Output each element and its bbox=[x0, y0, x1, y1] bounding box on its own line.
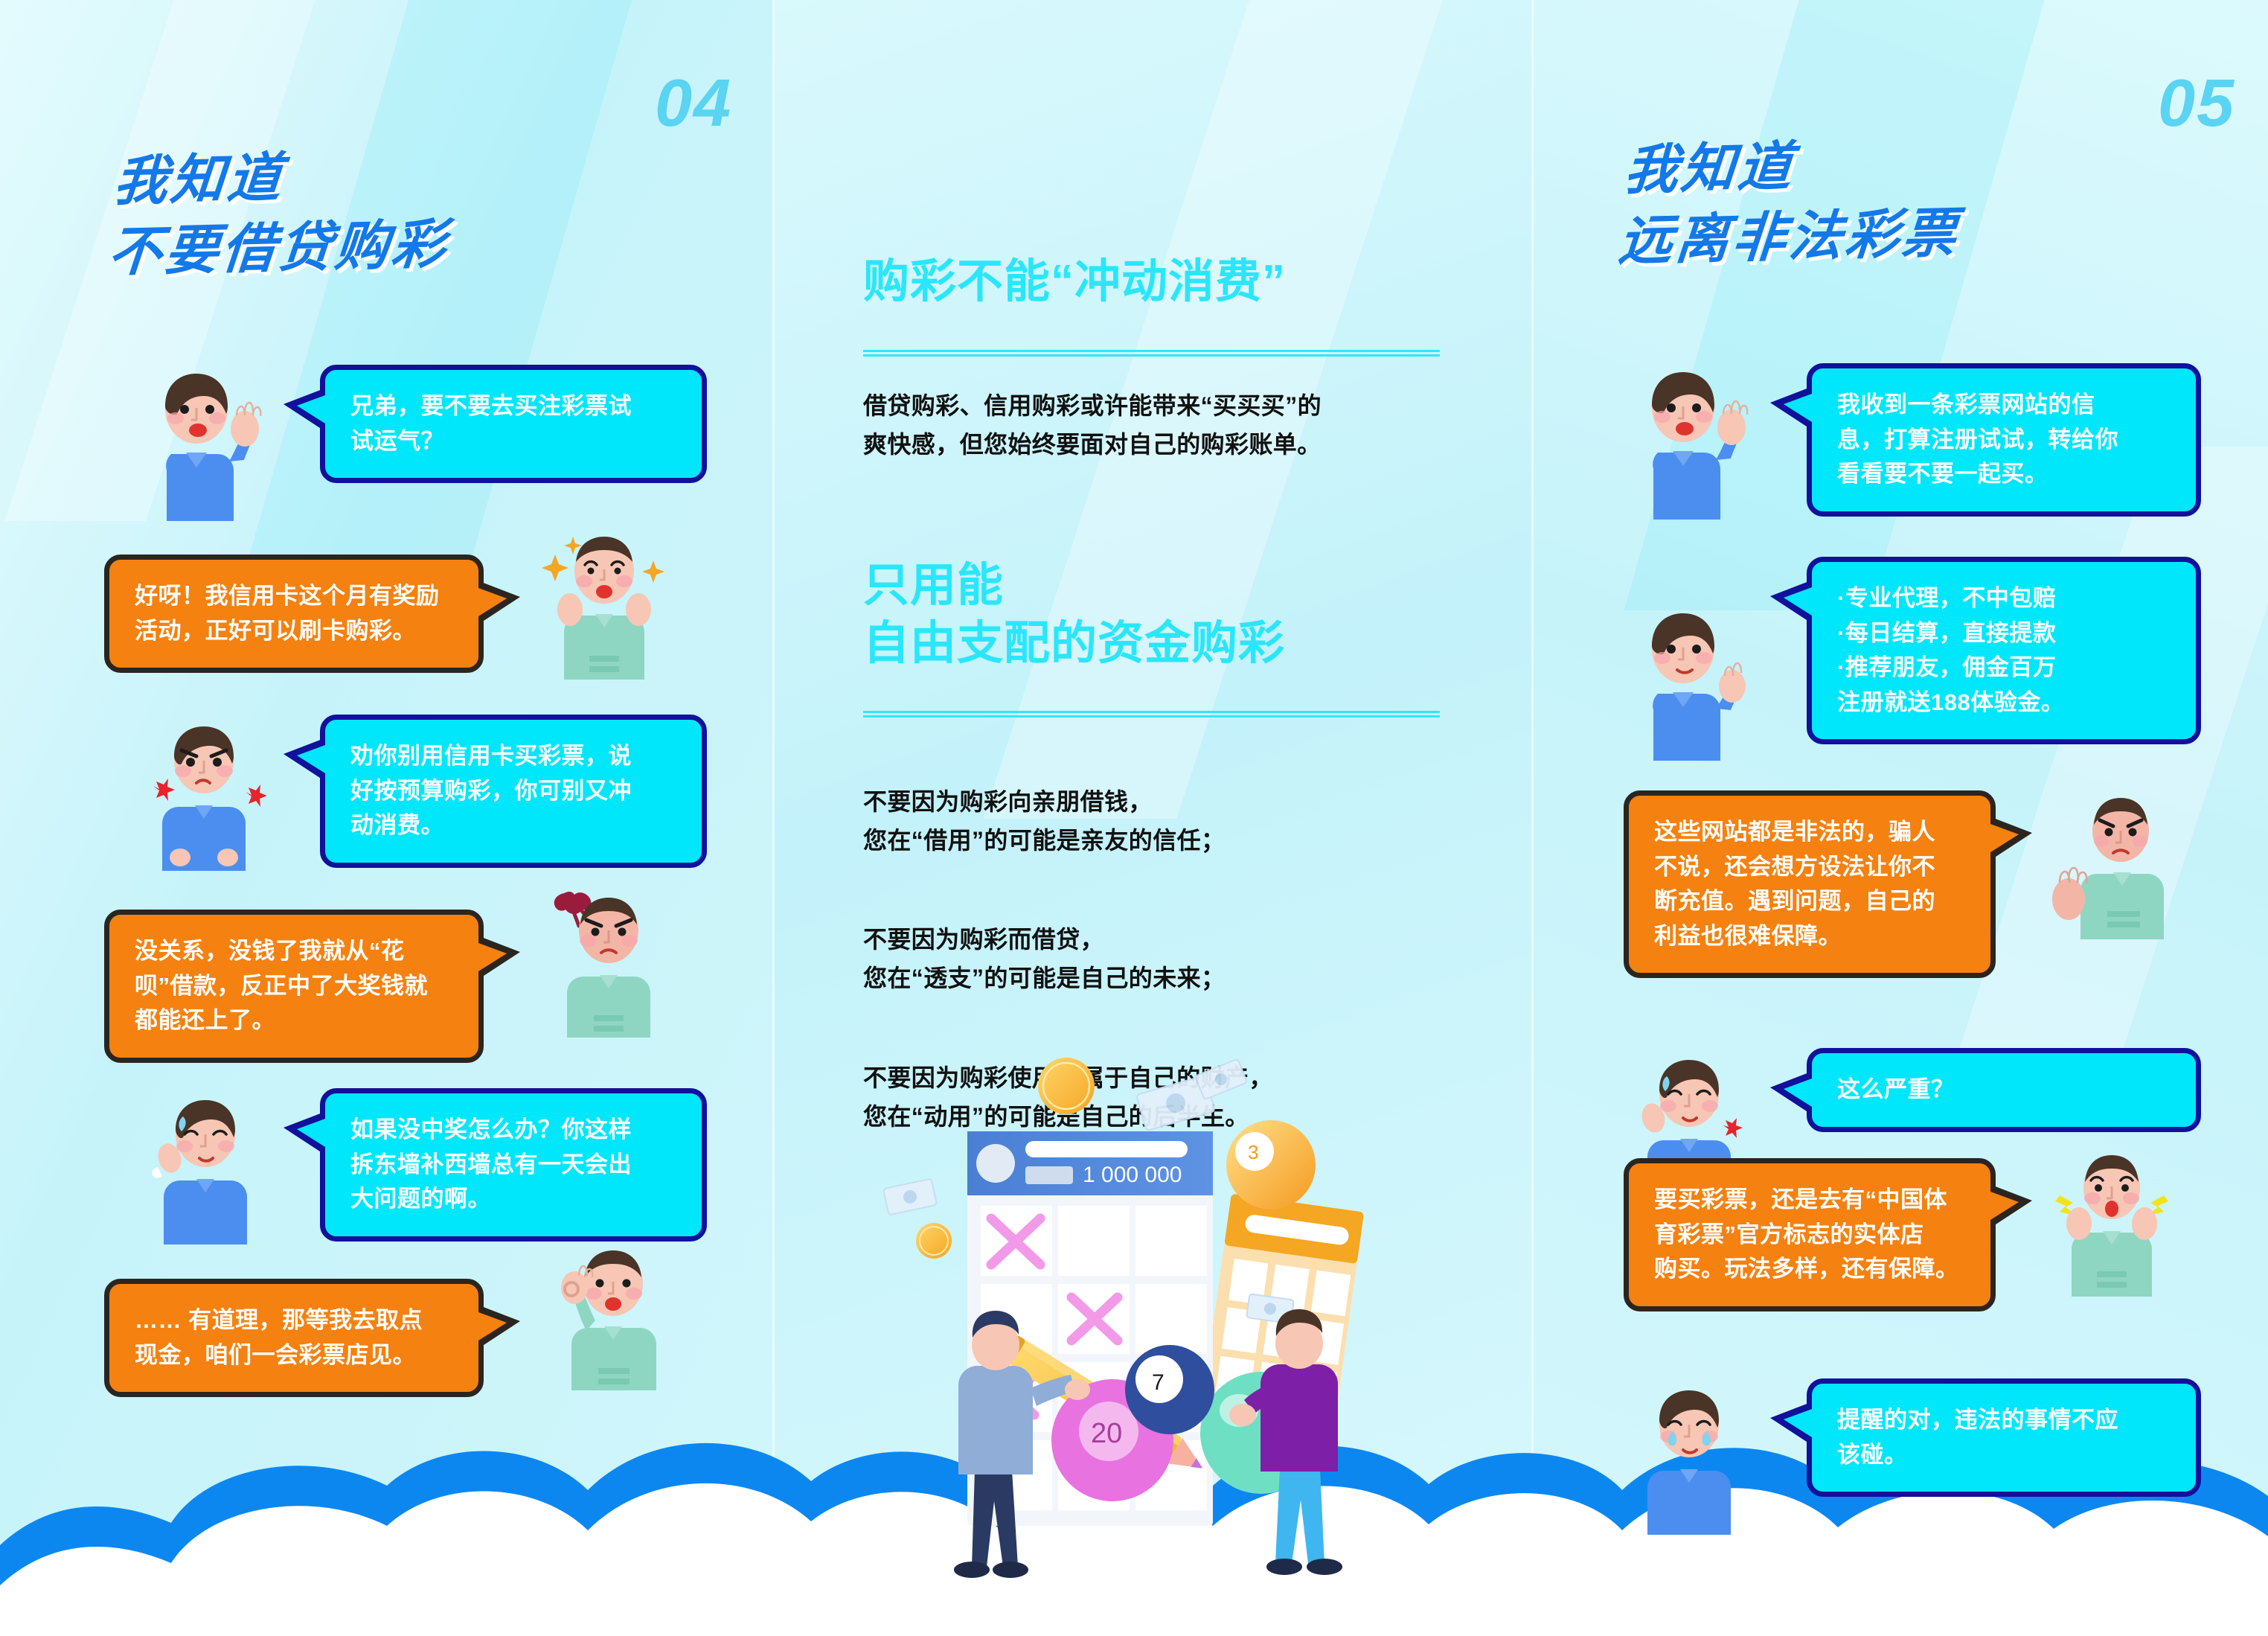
avatar-man-stop-gesture bbox=[2049, 783, 2174, 939]
page-title-left: 我知道 不要借贷购彩 bbox=[106, 137, 457, 287]
panel-right: 05 我知道 远离非法彩票 我收到一条彩票网站的信 息，打算注册试试，转给你 看… bbox=[1531, 0, 2268, 1636]
speech-bubble: 劝你别用信用卡买彩票，说 好按预算购彩，你可别又冲 动消费。 bbox=[320, 715, 707, 868]
conversation-row: 兄弟，要不要去买注彩票试 试运气？ bbox=[141, 365, 737, 521]
speech-bubble: 好呀！我信用卡这个月有奖励 活动，正好可以刷卡购彩。 bbox=[104, 555, 484, 673]
avatar-friend-worried bbox=[141, 1088, 266, 1244]
speech-bubble: 这些网站都是非法的，骗人 不说，还会想方设法让你不 断充值。遇到问题，自己的 利… bbox=[1624, 790, 1996, 978]
conversation-row: …… 有道理，那等我去取点 现金，咱们一会彩票店见。 bbox=[104, 1279, 722, 1397]
avatar-man-shocked bbox=[2049, 1140, 2174, 1297]
ball-number: 20 bbox=[1091, 1418, 1122, 1449]
panel-left: 04 我知道 不要借贷购彩 兄弟，要不要去买注彩票试 试运气？ 好呀！我信用卡这 bbox=[0, 0, 772, 1636]
conversation-row: 要买彩票，还是去有“中国体 育彩票”官方标志的实体店 购买。玩法多样，还有保障。 bbox=[1624, 1158, 2264, 1311]
center-divider-2 bbox=[863, 711, 1440, 718]
speech-bubble: 兄弟，要不要去买注彩票试 试运气？ bbox=[320, 365, 707, 483]
ball-number: 3 bbox=[1248, 1141, 1258, 1163]
conversation-row: 好呀！我信用卡这个月有奖励 活动，正好可以刷卡购彩。 bbox=[104, 555, 722, 680]
lottery-ticket-illustration: 1 000 000 3 20 7 bbox=[863, 1053, 1473, 1589]
conversation-row: 没关系，没钱了我就从“花 呗”借款，反正中了大奖钱就 都能还上了。 bbox=[104, 910, 722, 1063]
avatar-friend-angry bbox=[141, 715, 266, 871]
page-title-right: 我知道 远离非法彩票 bbox=[1616, 126, 1967, 275]
avatar-friend-waving bbox=[141, 365, 266, 521]
jackpot-amount: 1 000 000 bbox=[1083, 1163, 1182, 1187]
conversation-row: 这些网站都是非法的，骗人 不说，还会想方设法让你不 断充值。遇到问题，自己的 利… bbox=[1624, 790, 2264, 978]
speech-bubble: 如果没中奖怎么办？你这样 拆东墙补西墙总有一天会出 大问题的啊。 bbox=[320, 1088, 707, 1242]
conversation-row: 劝你别用信用卡买彩票，说 好按预算购彩，你可别又冲 动消费。 bbox=[141, 715, 737, 871]
speech-bubble: 提醒的对，违法的事情不应 该碰。 bbox=[1807, 1378, 2201, 1497]
center-paragraph: 不要因为购彩向亲朋借钱， 您在“借用”的可能是亲友的信任； bbox=[863, 783, 1451, 860]
ball-number: 7 bbox=[1152, 1370, 1165, 1395]
conversation-row: 如果没中奖怎么办？你这样 拆东墙补西墙总有一天会出 大问题的啊。 bbox=[141, 1088, 737, 1244]
speech-bubble-bullet-list: ·专业代理，不中包赔 ·每日结算，直接提款 ·推荐朋友，佣金百万 注册就送188… bbox=[1807, 557, 2201, 744]
avatar-friend-waving bbox=[1628, 604, 1753, 761]
page-number-right: 05 bbox=[2158, 65, 2235, 142]
speech-bubble: 我收到一条彩票网站的信 息，打算注册试试，转给你 看看要不要一起买。 bbox=[1807, 363, 2201, 517]
avatar-friend-waving bbox=[1628, 363, 1753, 520]
center-heading-1: 购彩不能“冲动消费” bbox=[863, 253, 1286, 311]
speech-bubble: 没关系，没钱了我就从“花 呗”借款，反正中了大奖钱就 都能还上了。 bbox=[104, 910, 484, 1063]
speech-bubble: 这么严重？ bbox=[1807, 1048, 2201, 1132]
avatar-man-excited bbox=[542, 523, 667, 680]
avatar-man-annoyed bbox=[542, 881, 667, 1038]
avatar-man-ok-gesture bbox=[542, 1234, 667, 1390]
center-heading-2: 只用能 自由支配的资金购彩 bbox=[863, 557, 1285, 672]
speech-bubble: …… 有道理，那等我去取点 现金，咱们一会彩票店见。 bbox=[104, 1279, 484, 1397]
avatar-friend-crying bbox=[1628, 1378, 1753, 1535]
page-number-left: 04 bbox=[655, 65, 732, 142]
speech-bubble: 要买彩票，还是去有“中国体 育彩票”官方标志的实体店 购买。玩法多样，还有保障。 bbox=[1624, 1158, 1996, 1311]
conversation-row: 我收到一条彩票网站的信 息，打算注册试试，转给你 看看要不要一起买。 bbox=[1628, 363, 2253, 520]
conversation-row: 提醒的对，违法的事情不应 该碰。 bbox=[1628, 1378, 2253, 1535]
center-body-1: 借贷购彩、信用购彩或许能带来“买买买”的 爽快感，但您始终要面对自己的购彩账单。 bbox=[863, 387, 1451, 464]
conversation-row: ·专业代理，不中包赔 ·每日结算，直接提款 ·推荐朋友，佣金百万 注册就送188… bbox=[1628, 557, 2253, 761]
center-paragraph: 不要因为购彩而借贷， 您在“透支”的可能是自己的未来； bbox=[863, 921, 1451, 998]
center-divider-1 bbox=[863, 350, 1440, 357]
